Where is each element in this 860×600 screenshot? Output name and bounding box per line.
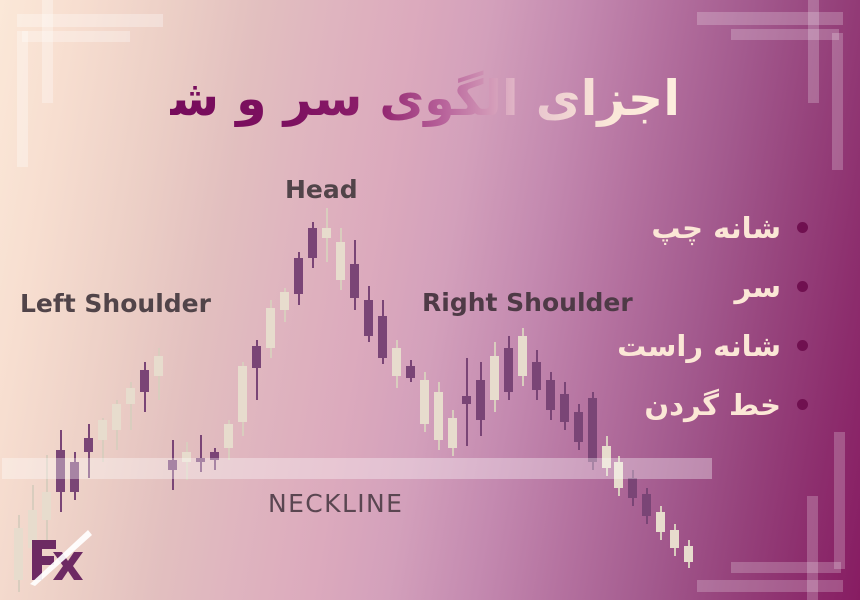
- candle-body: [588, 398, 597, 462]
- candle-body: [546, 380, 555, 410]
- candle-body: [154, 356, 163, 376]
- candle-body: [684, 546, 693, 562]
- bullet-dot-icon: [797, 281, 808, 292]
- candle-body: [420, 380, 429, 424]
- candle-body: [308, 228, 317, 258]
- page-title: اجزای الگوی سر و شانه: [170, 70, 680, 128]
- candle-body: [462, 396, 471, 404]
- candle-body: [252, 346, 261, 368]
- candle-body: [656, 512, 665, 532]
- candle-body: [448, 418, 457, 448]
- list-item: شانه راست: [608, 316, 808, 375]
- neckline-bar: [2, 458, 712, 479]
- candle-body: [322, 228, 331, 238]
- candle-body: [434, 392, 443, 440]
- list-item-label: شانه چپ: [608, 211, 781, 245]
- candle-body: [364, 300, 373, 336]
- candle-body: [42, 492, 51, 520]
- candle-body: [14, 528, 23, 580]
- candle-body: [112, 404, 121, 430]
- infographic-canvas: اجزای الگوی سر و شانه شانه چپ سر شانه را…: [0, 0, 860, 600]
- candle-body: [504, 348, 513, 392]
- annotation-left-shoulder: Left Shoulder: [20, 289, 211, 318]
- candle-body: [642, 494, 651, 516]
- candle-body: [294, 258, 303, 294]
- candle-body: [224, 424, 233, 448]
- candle-body: [280, 292, 289, 310]
- list-item: شانه چپ: [608, 198, 808, 257]
- candle-body: [238, 366, 247, 422]
- pattern-component-list: شانه چپ سر شانه راست خط گردن: [608, 198, 808, 434]
- annotation-right-shoulder: Right Shoulder: [422, 288, 633, 317]
- list-item: خط گردن: [608, 375, 808, 434]
- list-item-label: خط گردن: [608, 388, 781, 422]
- candle-body: [84, 438, 93, 452]
- annotation-head: Head: [285, 175, 358, 204]
- candle-body: [336, 242, 345, 280]
- candle-body: [350, 264, 359, 298]
- candle-body: [476, 380, 485, 420]
- candle-body: [406, 366, 415, 378]
- candle-body: [532, 362, 541, 390]
- bullet-dot-icon: [797, 340, 808, 351]
- candle-body: [98, 420, 107, 440]
- candle-body: [490, 356, 499, 400]
- candle-body: [378, 316, 387, 358]
- list-item-label: سر: [608, 270, 781, 304]
- candle-body: [518, 336, 527, 376]
- fx-logo: [26, 528, 92, 586]
- bullet-dot-icon: [797, 222, 808, 233]
- candle-body: [140, 370, 149, 392]
- bullet-dot-icon: [797, 399, 808, 410]
- candle-body: [392, 348, 401, 376]
- candle-body: [560, 394, 569, 422]
- candle-body: [670, 530, 679, 548]
- annotation-neckline: NECKLINE: [268, 489, 403, 518]
- candle-body: [574, 412, 583, 442]
- list-item-label: شانه راست: [608, 329, 781, 363]
- candle-body: [126, 388, 135, 404]
- candle-body: [628, 478, 637, 498]
- candle-body: [266, 308, 275, 348]
- list-item: سر: [608, 257, 808, 316]
